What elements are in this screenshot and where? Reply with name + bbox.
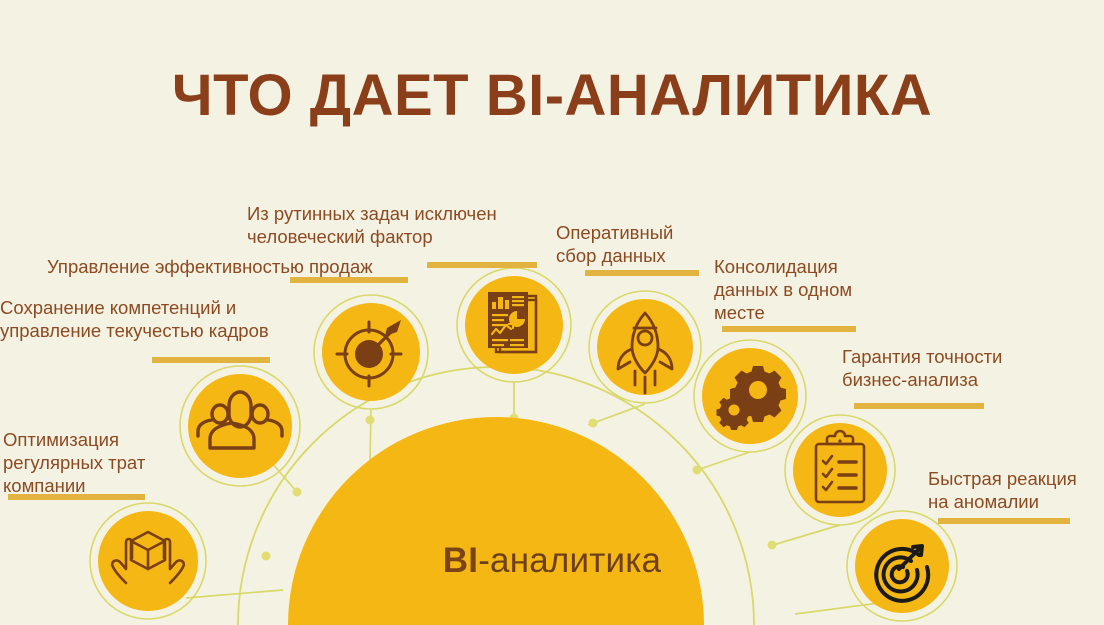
- label-rocket: Оперативный сбор данных: [556, 221, 736, 267]
- node-rocket[interactable]: [589, 291, 701, 403]
- label-target-arrow: Управление эффективностью продаж: [47, 255, 427, 278]
- orbit-dot-3: [366, 416, 375, 425]
- connector-gears: [697, 452, 750, 470]
- label-target-dark: Быстрая реакция на аномалии: [928, 467, 1104, 513]
- rule-target-dark: [938, 518, 1070, 524]
- connector-hands-box: [186, 590, 283, 598]
- rule-hands-box: [8, 494, 145, 500]
- rule-report: [427, 262, 537, 268]
- label-gears: Консолидация данных в одном месте: [714, 255, 914, 324]
- label-clipboard: Гарантия точности бизнес-анализа: [842, 345, 1072, 391]
- orbit-dot-5: [589, 419, 598, 428]
- infographic-canvas: ЧТО ДАЕТ BI-АНАЛИТИКА: [0, 0, 1104, 625]
- orbit-dot-1: [293, 488, 302, 497]
- rule-people: [152, 357, 270, 363]
- center-dome: [288, 417, 704, 625]
- orbit-dot-6: [693, 466, 702, 475]
- rule-gears: [722, 326, 856, 332]
- label-hands-box: Оптимизация регулярных трат компании: [3, 428, 203, 497]
- node-gears[interactable]: [694, 340, 806, 452]
- center-label-rest: -аналитика: [478, 541, 661, 580]
- node-target-arrow[interactable]: [314, 295, 428, 409]
- rule-target-arrow: [290, 277, 408, 283]
- node-report[interactable]: [457, 268, 571, 382]
- rule-rocket: [585, 270, 699, 276]
- center-label-bi: BI: [443, 541, 478, 580]
- label-people: Сохранение компетенций и управление теку…: [0, 296, 300, 342]
- label-report: Из рутинных задач исключен человеческий …: [247, 202, 567, 248]
- center-label: BI-аналитика: [0, 541, 1104, 581]
- node-clipboard[interactable]: [785, 415, 895, 525]
- rule-clipboard: [854, 403, 984, 409]
